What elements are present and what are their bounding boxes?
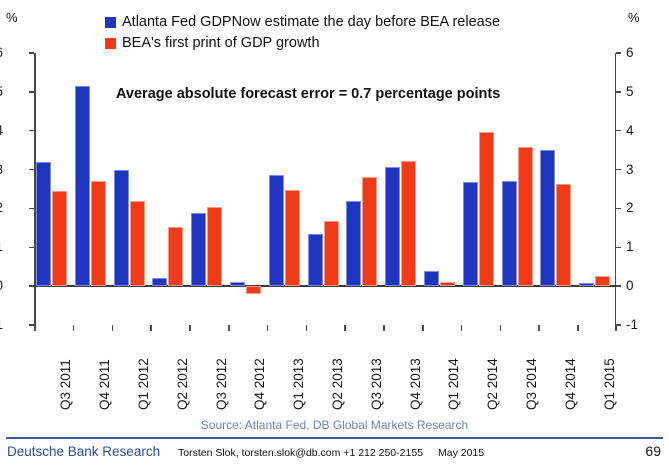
legend-item-bea: BEA's first print of GDP growth <box>105 33 585 54</box>
y-tick-label-r-0: 0 <box>626 279 656 293</box>
bar-group <box>538 53 577 325</box>
legend-label-gdpnow: Atlanta Fed GDPNow estimate the day befo… <box>122 15 500 30</box>
bar-group <box>189 53 228 325</box>
bar-group <box>112 53 151 325</box>
x-axis-labels: Q3 2011Q4 2011Q1 2012Q2 2012Q3 2012Q4 20… <box>34 332 616 412</box>
bar <box>207 207 222 286</box>
x-axis-label: Q2 2013 <box>331 330 345 410</box>
x-tick <box>34 325 36 331</box>
x-tick <box>73 325 75 331</box>
x-axis-label: Q3 2013 <box>370 330 384 410</box>
bar <box>230 282 245 286</box>
x-axis-label: Q4 2011 <box>98 330 112 410</box>
y-tick-r-0 <box>616 285 621 287</box>
y-tick-l-5 <box>29 91 34 93</box>
bar <box>191 213 206 286</box>
chart-page: % % Atlanta Fed GDPNow estimate the day … <box>0 0 669 470</box>
y-tick-label-r-5: 5 <box>626 85 656 99</box>
bar <box>502 181 517 286</box>
page-number: 69 <box>645 443 661 459</box>
bar <box>579 283 594 286</box>
x-axis-label: Q3 2011 <box>59 330 73 410</box>
bar <box>91 181 106 286</box>
x-tick <box>461 325 463 331</box>
bar-group <box>73 53 112 325</box>
y-tick-label-r-1: 1 <box>626 240 656 254</box>
x-tick <box>267 325 269 331</box>
author-contact: Torsten Slok, torsten.slok@db.com +1 212… <box>178 447 423 459</box>
y-tick-label-l-4: 4 <box>0 124 3 138</box>
legend-label-bea: BEA's first print of GDP growth <box>122 36 320 51</box>
publication-date: May 2015 <box>438 447 484 459</box>
bar-group <box>383 53 422 325</box>
y-tick-l--1 <box>29 324 34 326</box>
bar <box>152 278 167 287</box>
brand-deutsche-bank-research: Deutsche Bank Research <box>7 444 160 459</box>
x-axis-label: Q4 2014 <box>564 330 578 410</box>
y-tick-label-l-0: 0 <box>0 279 3 293</box>
x-axis-label: Q2 2012 <box>176 330 190 410</box>
bar <box>308 234 323 286</box>
legend-swatch-bea <box>105 38 116 49</box>
x-axis-label: Q1 2013 <box>292 330 306 410</box>
x-axis-label: Q1 2014 <box>447 330 461 410</box>
bar-group <box>228 53 267 325</box>
bar-group <box>500 53 539 325</box>
y-tick-r--1 <box>616 324 621 326</box>
bar <box>285 190 300 286</box>
plot-area: -1-100112233445566 <box>34 53 616 325</box>
bar-group <box>267 53 306 325</box>
legend-swatch-gdpnow <box>105 17 116 28</box>
bar-group <box>344 53 383 325</box>
bar <box>114 170 129 287</box>
y-tick-label-l-3: 3 <box>0 163 3 177</box>
bar-group <box>461 53 500 325</box>
bar <box>324 221 339 286</box>
x-tick <box>112 325 114 331</box>
y-tick-label-r-2: 2 <box>626 201 656 215</box>
y-tick-l-0 <box>29 285 34 287</box>
x-axis-label: Q1 2012 <box>137 330 151 410</box>
bar <box>362 177 377 287</box>
y-tick-label-l--1: -1 <box>0 318 3 332</box>
bar <box>130 201 145 286</box>
bar <box>556 184 571 286</box>
legend-item-gdpnow: Atlanta Fed GDPNow estimate the day befo… <box>105 12 585 33</box>
footer: Deutsche Bank Research Torsten Slok, tor… <box>0 441 669 469</box>
source-note: Source: Atlanta Fed, DB Global Markets R… <box>0 418 669 432</box>
x-tick <box>344 325 346 331</box>
y-tick-label-l-5: 5 <box>0 85 3 99</box>
y-tick-l-2 <box>29 208 34 210</box>
y-tick-l-6 <box>29 52 34 54</box>
bar <box>246 286 261 294</box>
y-tick-l-3 <box>29 169 34 171</box>
x-tick <box>150 325 152 331</box>
y-tick-label-r--1: -1 <box>626 318 656 332</box>
x-tick <box>306 325 308 331</box>
y-tick-label-r-3: 3 <box>626 163 656 177</box>
bar <box>440 282 455 286</box>
y-tick-r-3 <box>616 169 621 171</box>
x-tick <box>538 325 540 331</box>
bar-group <box>306 53 345 325</box>
bar-group <box>34 53 73 325</box>
x-axis-label: Q3 2014 <box>525 330 539 410</box>
bar <box>36 162 51 286</box>
bar <box>75 86 90 286</box>
bar <box>52 191 67 286</box>
bar <box>385 167 400 286</box>
bar-group <box>150 53 189 325</box>
x-tick <box>500 325 502 331</box>
y-tick-l-1 <box>29 247 34 249</box>
bar <box>518 147 533 286</box>
y-tick-label-l-1: 1 <box>0 240 3 254</box>
x-axis-label: Q4 2013 <box>409 330 423 410</box>
bar <box>595 276 610 286</box>
bar <box>540 150 555 286</box>
chart-legend: Atlanta Fed GDPNow estimate the day befo… <box>105 12 585 54</box>
y-tick-label-r-4: 4 <box>626 124 656 138</box>
bar <box>269 175 284 287</box>
bar <box>424 271 439 286</box>
bar <box>463 182 478 286</box>
y-tick-r-2 <box>616 208 621 210</box>
y-tick-l-4 <box>29 130 34 132</box>
bar <box>168 227 183 286</box>
bar <box>401 161 416 286</box>
y-tick-r-5 <box>616 91 621 93</box>
x-axis-label: Q1 2015 <box>603 330 617 410</box>
y-tick-r-4 <box>616 130 621 132</box>
bar <box>346 201 361 286</box>
bar-series-container <box>34 53 616 325</box>
footer-divider <box>6 437 663 439</box>
x-axis-label: Q2 2014 <box>486 330 500 410</box>
y-tick-label-r-6: 6 <box>626 46 656 60</box>
bar-group <box>577 53 616 325</box>
bar <box>479 132 494 286</box>
bar-group <box>422 53 461 325</box>
x-axis-label: Q3 2012 <box>215 330 229 410</box>
y-axis-unit-right: % <box>628 10 640 25</box>
x-axis-label: Q4 2012 <box>253 330 267 410</box>
y-tick-label-l-2: 2 <box>0 201 3 215</box>
y-tick-r-1 <box>616 247 621 249</box>
y-axis-unit-left: % <box>6 10 18 25</box>
y-tick-r-6 <box>616 52 621 54</box>
y-tick-label-l-6: 6 <box>0 46 3 60</box>
